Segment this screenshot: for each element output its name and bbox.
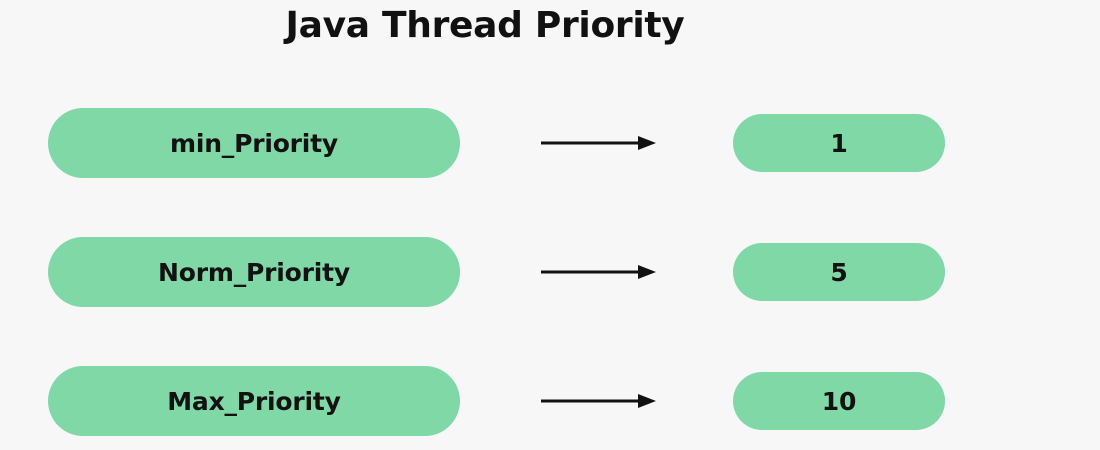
priority-name-label: min_Priority [170,129,338,158]
priority-value-label: 5 [830,258,847,287]
priority-value-label: 1 [830,129,847,158]
priority-name-pill: min_Priority [48,108,460,178]
arrow-right-icon [540,391,656,411]
priority-name-label: Norm_Priority [158,258,350,287]
priority-row: Max_Priority 10 [0,366,1100,436]
priority-value-pill: 5 [733,243,945,301]
page-title: Java Thread Priority [0,4,970,48]
priority-value-label: 10 [822,387,856,416]
priority-name-pill: Norm_Priority [48,237,460,307]
priority-value-pill: 1 [733,114,945,172]
priority-name-label: Max_Priority [167,387,341,416]
java-thread-priority-diagram: Java Thread Priority min_Priority 1 Norm… [0,0,1100,450]
priority-row: min_Priority 1 [0,108,1100,178]
arrow-right-icon [540,262,656,282]
priority-value-pill: 10 [733,372,945,430]
priority-row: Norm_Priority 5 [0,237,1100,307]
arrow-right-icon [540,133,656,153]
priority-name-pill: Max_Priority [48,366,460,436]
